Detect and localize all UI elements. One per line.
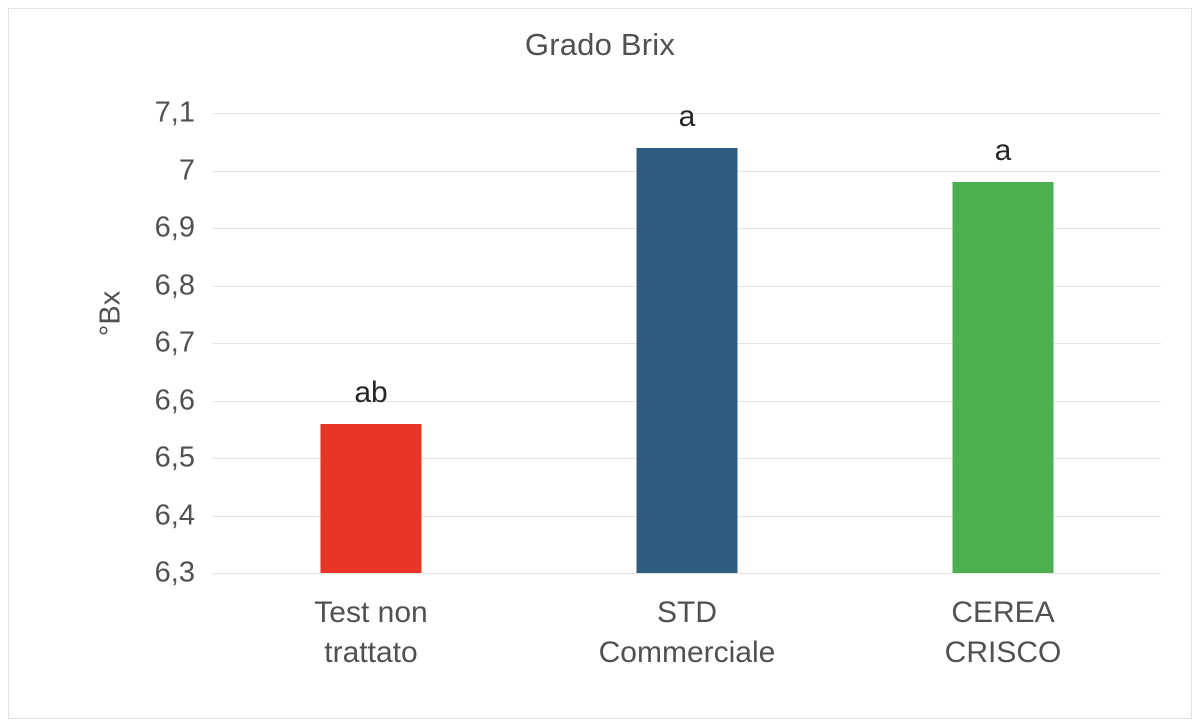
plot-area: 7,176,96,86,76,66,56,46,3 abaa: [213, 113, 1161, 573]
bar[interactable]: [953, 182, 1054, 573]
chart-frame: Grado Brix °Bx 7,176,96,86,76,66,56,46,3…: [8, 8, 1192, 719]
bar[interactable]: [637, 148, 738, 574]
y-axis-tick-label: 7: [179, 154, 195, 187]
bar-significance-label: a: [679, 100, 696, 134]
y-axis-tick-label: 6,6: [155, 384, 195, 417]
y-axis-tick-label: 7,1: [155, 97, 195, 130]
bar-series: abaa: [213, 113, 1161, 573]
y-axis-tick-label: 6,9: [155, 212, 195, 245]
bar-significance-label: ab: [354, 376, 387, 410]
gridline: [213, 573, 1161, 574]
bar-slot: a: [845, 113, 1161, 573]
bar-slot: a: [529, 113, 845, 573]
x-axis-category-label: STDCommerciale: [529, 593, 845, 672]
bar-slot: ab: [213, 113, 529, 573]
x-axis-category-labels: Test nontrattatoSTDCommercialeCEREACRISC…: [213, 593, 1161, 713]
x-axis-category-label: Test nontrattato: [213, 593, 529, 672]
y-axis-tick-label: 6,5: [155, 442, 195, 475]
bar[interactable]: [321, 424, 422, 574]
x-axis-category-label-line: STD: [529, 593, 845, 633]
chart-title: Grado Brix: [9, 27, 1191, 63]
x-axis-category-label-line: CEREA: [845, 593, 1161, 633]
bar-significance-label: a: [995, 134, 1012, 168]
y-axis-title: °Bx: [95, 254, 128, 374]
x-axis-category-label-line: trattato: [213, 633, 529, 673]
x-axis-category-label-line: Commerciale: [529, 633, 845, 673]
y-axis-tick-label: 6,3: [155, 557, 195, 590]
y-axis-tick-label: 6,8: [155, 269, 195, 302]
y-axis-tick-label: 6,4: [155, 499, 195, 532]
x-axis-category-label-line: Test non: [213, 593, 529, 633]
y-axis-tick-label: 6,7: [155, 327, 195, 360]
x-axis-category-label-line: CRISCO: [845, 633, 1161, 673]
x-axis-category-label: CEREACRISCO: [845, 593, 1161, 672]
